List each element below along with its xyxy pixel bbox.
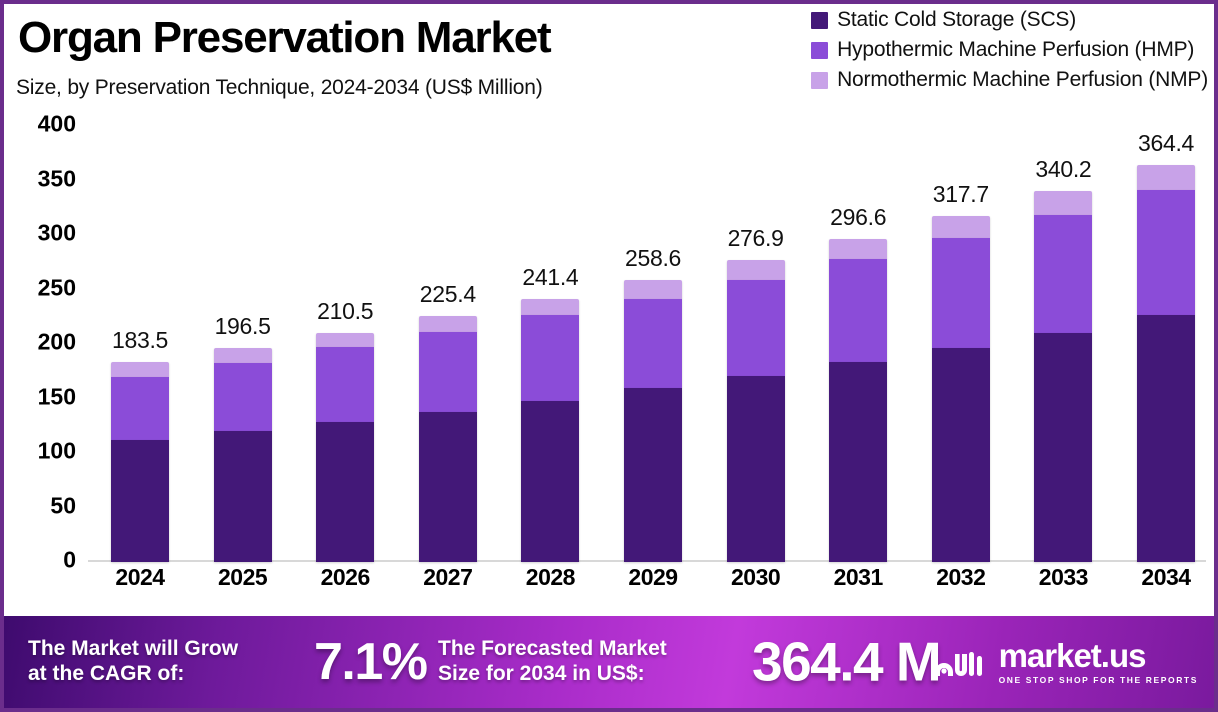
bar-segment[interactable] <box>214 431 272 562</box>
bar-stack[interactable]: 258.6 <box>624 280 682 562</box>
bar-segment[interactable] <box>727 260 785 280</box>
bar-segment[interactable] <box>111 440 169 562</box>
cagr-label: The Market will Grow at the CAGR of: <box>28 637 238 687</box>
market-us-mark-icon <box>931 642 989 682</box>
x-axis-tick-label: 2026 <box>316 564 374 591</box>
bar-stack[interactable]: 196.5 <box>214 348 272 562</box>
bar-column <box>214 348 272 562</box>
square-swatch-icon <box>811 42 828 59</box>
bar-stack[interactable]: 296.6 <box>829 239 887 562</box>
y-axis-tick-label: 150 <box>4 383 76 410</box>
x-axis-tick-label: 2028 <box>521 564 579 591</box>
bar-segment[interactable] <box>316 333 374 348</box>
bar-column <box>829 239 887 562</box>
x-axis-tick-label: 2033 <box>1034 564 1092 591</box>
y-axis-tick-label: 200 <box>4 329 76 356</box>
bar-segment[interactable] <box>521 299 579 315</box>
bar-total-label: 317.7 <box>933 181 989 208</box>
bar-segment[interactable] <box>419 316 477 331</box>
x-axis-tick-label: 2034 <box>1137 564 1195 591</box>
bar-total-label: 340.2 <box>1035 156 1091 183</box>
bar-segment[interactable] <box>1137 165 1195 190</box>
bar-segment[interactable] <box>932 348 990 562</box>
legend-item[interactable]: Static Cold Storage (SCS) <box>811 8 1076 32</box>
bar-segment[interactable] <box>316 422 374 562</box>
cagr-label-line1: The Market will Grow <box>28 637 238 662</box>
bar-column <box>1034 191 1092 562</box>
y-axis-tick-label: 300 <box>4 220 76 247</box>
bar-segment[interactable] <box>316 347 374 421</box>
bar-segment[interactable] <box>214 363 272 431</box>
x-axis-tick-label: 2025 <box>214 564 272 591</box>
bar-segment[interactable] <box>1137 190 1195 315</box>
bar-stack[interactable]: 364.4 <box>1137 165 1195 562</box>
x-axis-labels: 2024202520262027202820292030203120322033… <box>88 564 1206 602</box>
bar-segment[interactable] <box>419 332 477 412</box>
y-axis-tick-label: 400 <box>4 111 76 138</box>
x-axis-tick-label: 2029 <box>624 564 682 591</box>
x-axis-tick-label: 2032 <box>932 564 990 591</box>
x-axis-tick-label: 2027 <box>419 564 477 591</box>
bar-stack[interactable]: 183.5 <box>111 362 169 562</box>
bar-segment[interactable] <box>1034 215 1092 332</box>
bar-total-label: 276.9 <box>728 225 784 252</box>
chart-infographic: Organ Preservation Market Size, by Prese… <box>0 0 1218 712</box>
bar-segment[interactable] <box>829 362 887 562</box>
plot-area: 400350300250200150100500 183.5196.5210.5… <box>4 109 1214 564</box>
legend-item[interactable]: Hypothermic Machine Perfusion (HMP) <box>811 38 1194 62</box>
bar-total-label: 196.5 <box>215 313 271 340</box>
bar-column <box>111 362 169 562</box>
cagr-value: 7.1% <box>314 636 427 688</box>
bar-column <box>419 316 477 562</box>
bar-segment[interactable] <box>1137 315 1195 562</box>
bar-column <box>521 299 579 562</box>
bar-total-label: 296.6 <box>830 204 886 231</box>
brand-name: market.us <box>999 639 1146 672</box>
x-axis-tick-label: 2030 <box>727 564 785 591</box>
bar-stack[interactable]: 210.5 <box>316 333 374 562</box>
square-swatch-icon <box>811 12 828 29</box>
bar-stack[interactable]: 276.9 <box>727 260 785 562</box>
bar-segment[interactable] <box>727 376 785 562</box>
legend-label: Static Cold Storage (SCS) <box>837 8 1076 32</box>
bar-segment[interactable] <box>419 412 477 562</box>
page-subtitle: Size, by Preservation Technique, 2024-20… <box>16 76 543 100</box>
bar-column <box>624 280 682 562</box>
bar-segment[interactable] <box>111 362 169 377</box>
cagr-label-line2: at the CAGR of: <box>28 662 238 687</box>
forecast-label-line1: The Forecasted Market <box>438 637 667 662</box>
y-axis-tick-label: 100 <box>4 438 76 465</box>
bar-segment[interactable] <box>624 280 682 299</box>
x-axis-tick-label: 2024 <box>111 564 169 591</box>
bar-segment[interactable] <box>829 239 887 260</box>
bar-group: 183.5196.5210.5225.4241.4258.6276.9296.6… <box>88 109 1206 564</box>
brand-text: market.us ONE STOP SHOP FOR THE REPORTS <box>999 639 1198 685</box>
y-axis-tick-label: 0 <box>4 547 76 574</box>
bar-stack[interactable]: 241.4 <box>521 299 579 562</box>
forecast-label-line2: Size for 2034 in US$: <box>438 662 667 687</box>
chart-legend: Static Cold Storage (SCS)Hypothermic Mac… <box>811 8 1208 92</box>
bar-column <box>316 333 374 562</box>
bar-segment[interactable] <box>1034 333 1092 562</box>
bar-column <box>1137 165 1195 562</box>
bar-segment[interactable] <box>932 238 990 348</box>
bar-total-label: 364.4 <box>1138 130 1194 157</box>
bar-segment[interactable] <box>111 377 169 440</box>
y-axis-tick-label: 50 <box>4 492 76 519</box>
bar-total-label: 258.6 <box>625 245 681 272</box>
y-axis-tick-label: 250 <box>4 274 76 301</box>
bar-segment[interactable] <box>521 401 579 562</box>
x-axis-tick-label: 2031 <box>829 564 887 591</box>
bar-segment[interactable] <box>829 259 887 362</box>
legend-label: Normothermic Machine Perfusion (NMP) <box>837 68 1208 92</box>
bar-segment[interactable] <box>521 315 579 401</box>
bar-total-label: 183.5 <box>112 327 168 354</box>
bar-segment[interactable] <box>932 216 990 238</box>
brand-logo[interactable]: market.us ONE STOP SHOP FOR THE REPORTS <box>931 639 1198 685</box>
summary-banner: The Market will Grow at the CAGR of: 7.1… <box>4 616 1214 708</box>
bar-segment[interactable] <box>727 280 785 376</box>
y-axis-tick-label: 350 <box>4 165 76 192</box>
legend-label: Hypothermic Machine Perfusion (HMP) <box>837 38 1194 62</box>
legend-item[interactable]: Normothermic Machine Perfusion (NMP) <box>811 68 1208 92</box>
brand-tagline: ONE STOP SHOP FOR THE REPORTS <box>999 675 1198 685</box>
bar-column <box>932 216 990 562</box>
bar-segment[interactable] <box>1034 191 1092 215</box>
square-swatch-icon <box>811 72 828 89</box>
forecast-label: The Forecasted Market Size for 2034 in U… <box>438 637 667 687</box>
bar-total-label: 241.4 <box>522 264 578 291</box>
bar-segment[interactable] <box>624 388 682 562</box>
forecast-value: 364.4 M <box>752 635 940 690</box>
bar-stack[interactable]: 317.7 <box>932 216 990 562</box>
bar-segment[interactable] <box>624 299 682 389</box>
bar-segment[interactable] <box>214 348 272 363</box>
bar-total-label: 210.5 <box>317 298 373 325</box>
bar-stack[interactable]: 340.2 <box>1034 191 1092 562</box>
bar-column <box>727 260 785 562</box>
bar-total-label: 225.4 <box>420 281 476 308</box>
bar-stack[interactable]: 225.4 <box>419 316 477 562</box>
page-title: Organ Preservation Market <box>18 16 550 60</box>
